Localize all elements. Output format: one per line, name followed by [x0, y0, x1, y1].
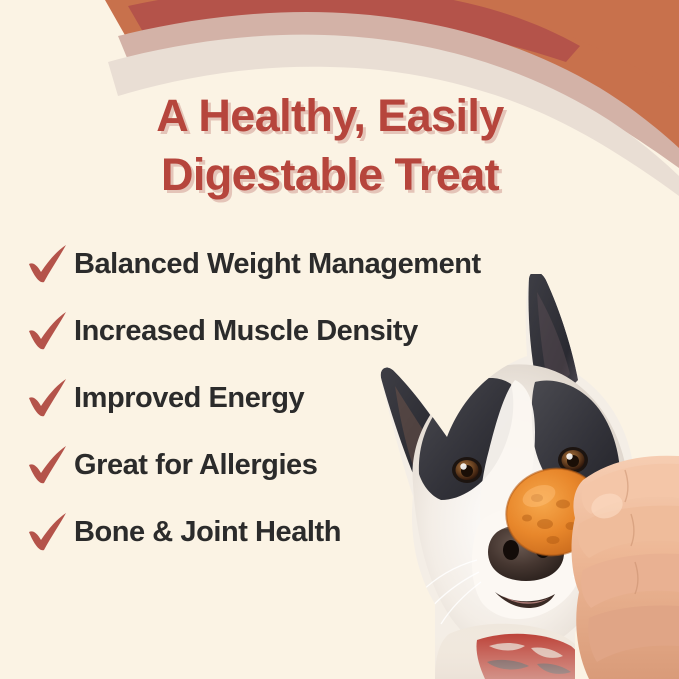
check-icon	[22, 442, 74, 488]
check-icon	[22, 308, 74, 354]
check-icon	[22, 375, 74, 421]
check-icon	[22, 241, 74, 287]
promo-card: A Healthy, Easily Digestable Treat Balan…	[0, 0, 679, 679]
title-line-2: Digestable Treat	[50, 145, 610, 204]
check-icon	[22, 509, 74, 555]
poster-content: A Healthy, Easily Digestable Treat Balan…	[0, 0, 679, 679]
benefit-label: Balanced Weight Management	[74, 248, 481, 281]
benefit-item: Improved Energy	[22, 372, 662, 424]
benefit-label: Bone & Joint Health	[74, 516, 341, 549]
benefits-list: Balanced Weight Management Increased Mus…	[22, 238, 662, 573]
benefit-label: Improved Energy	[74, 382, 304, 415]
benefit-item: Bone & Joint Health	[22, 506, 662, 558]
benefit-label: Increased Muscle Density	[74, 315, 418, 348]
benefit-item: Balanced Weight Management	[22, 238, 662, 290]
page-title: A Healthy, Easily Digestable Treat	[50, 86, 610, 205]
benefit-item: Increased Muscle Density	[22, 305, 662, 357]
benefit-item: Great for Allergies	[22, 439, 662, 491]
benefit-label: Great for Allergies	[74, 449, 317, 482]
title-line-1: A Healthy, Easily	[50, 86, 610, 145]
